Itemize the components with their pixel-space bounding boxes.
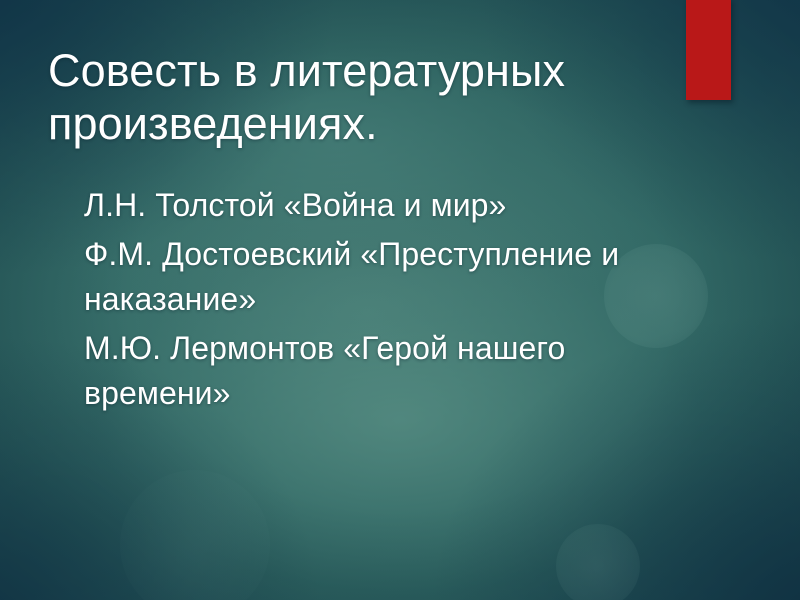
- presentation-slide: Совесть в литературных произведениях. Л.…: [0, 0, 800, 600]
- slide-title: Совесть в литературных произведениях.: [48, 44, 688, 150]
- list-item: Л.Н. Толстой «Война и мир»: [84, 183, 714, 228]
- list-item: М.Ю. Лермонтов «Герой нашего времени»: [84, 326, 714, 416]
- list-item: Ф.М. Достоевский «Преступление и наказан…: [84, 232, 714, 322]
- red-accent-rectangle: [686, 0, 731, 100]
- slide-body-list: Л.Н. Толстой «Война и мир» Ф.М. Достоевс…: [84, 183, 714, 416]
